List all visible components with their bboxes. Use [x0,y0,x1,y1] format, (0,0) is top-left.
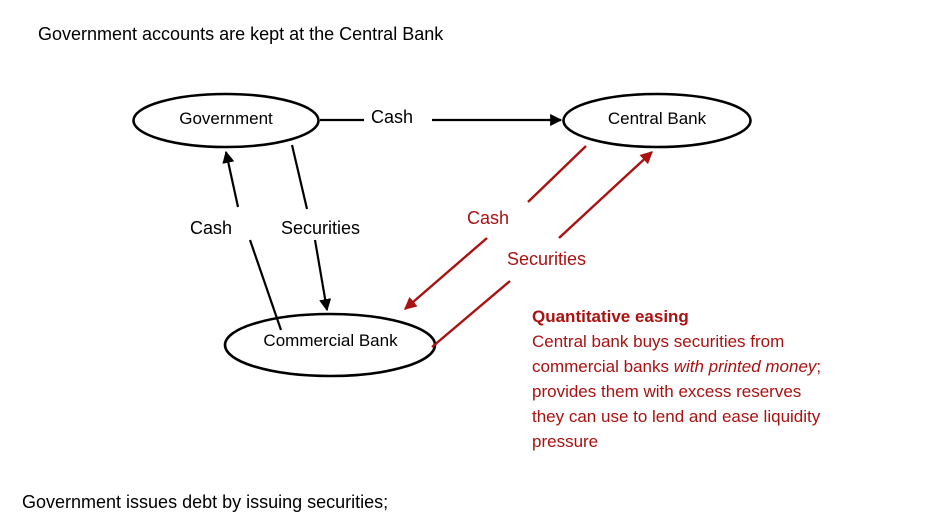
qe-line-2-suffix: ; [816,357,821,376]
footnote-line-1: Government issues debt by issuing securi… [22,490,425,515]
edge-central-commercial-cash-lower [405,238,487,309]
edge-commercial-central-securities-upper [559,152,652,238]
diagram-footnote: Government issues debt by issuing securi… [22,440,425,525]
qe-line-4: they can use to lend and ease liquidity [532,404,922,429]
edge-commercial-government-cash-lower [250,240,281,330]
edge-commercial-central-securities-lower [432,281,510,347]
qe-line-2-emphasis: with printed money [674,357,817,376]
edge-central-commercial-cash-upper [528,146,586,202]
node-label-government: Government [133,109,319,129]
qe-line-2-prefix: commercial banks [532,357,674,376]
edge-label-commercial-government-cash: Cash [190,218,232,239]
diagram-canvas: Government accounts are kept at the Cent… [0,0,929,525]
qe-line-3: provides them with excess reserves [532,379,922,404]
node-label-commercial-bank: Commercial Bank [225,331,436,351]
edge-label-government-commercial-securities: Securities [281,218,360,239]
edge-commercial-government-cash-upper [226,152,238,207]
edge-label-central-commercial-cash: Cash [467,208,509,229]
edge-label-government-central-cash: Cash [371,107,413,128]
quantitative-easing-annotation: Quantitative easing Central bank buys se… [532,304,922,454]
qe-line-2: commercial banks with printed money; [532,354,922,379]
edge-government-commercial-securities-lower [315,240,327,310]
diagram-title: Government accounts are kept at the Cent… [38,24,443,45]
node-label-central-bank: Central Bank [563,109,751,129]
edge-label-commercial-central-securities: Securities [507,249,586,270]
qe-heading: Quantitative easing [532,304,922,329]
qe-line-5: pressure [532,429,922,454]
qe-line-1: Central bank buys securities from [532,329,922,354]
edge-government-commercial-securities-upper [292,145,307,209]
